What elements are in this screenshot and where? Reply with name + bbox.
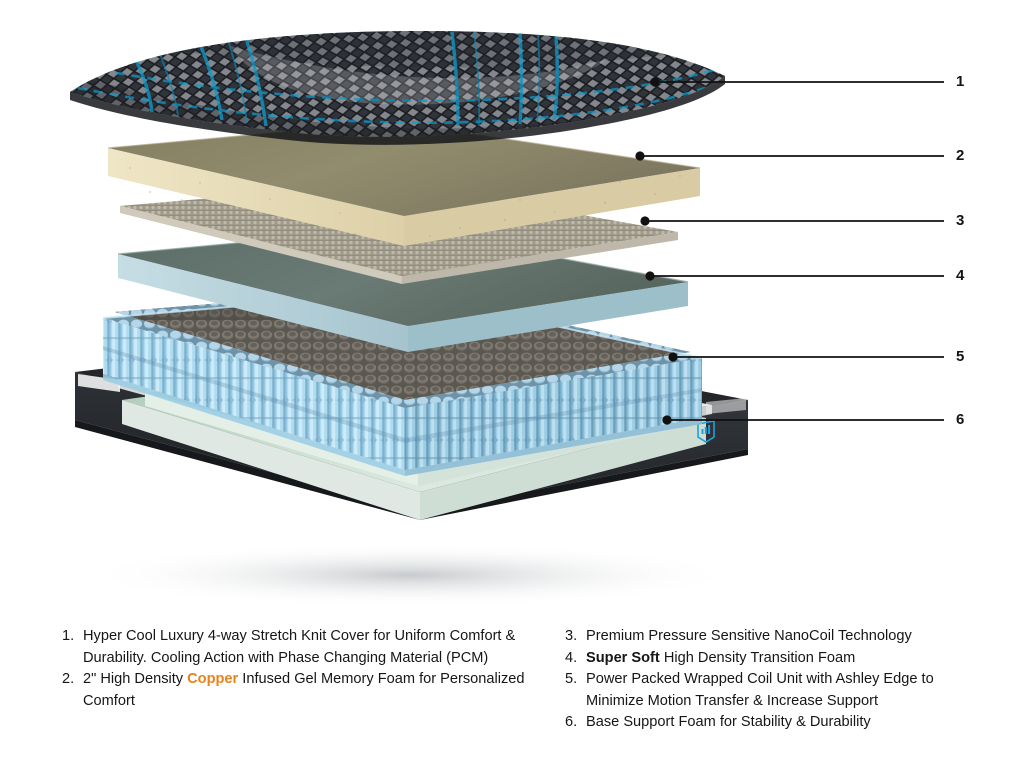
legend-item-number: 6. <box>565 712 586 734</box>
legend-item: 5.Power Packed Wrapped Coil Unit with As… <box>565 669 985 712</box>
legend: 1.Hyper Cool Luxury 4-way Stretch Knit C… <box>0 626 1024 768</box>
callout-number-3: 3 <box>956 213 964 228</box>
legend-column-left: 1.Hyper Cool Luxury 4-way Stretch Knit C… <box>62 626 554 712</box>
callout-number-6: 6 <box>956 412 964 427</box>
legend-item-number: 3. <box>565 626 586 648</box>
legend-text-run: 2" High Density <box>83 671 187 687</box>
legend-item-number: 2. <box>62 669 83 691</box>
legend-item-text: Base Support Foam for Stability & Durabi… <box>586 712 985 734</box>
legend-item: 6.Base Support Foam for Stability & Dura… <box>565 712 985 734</box>
keyword-bold: Super Soft <box>586 650 660 666</box>
legend-item-number: 5. <box>565 669 586 691</box>
legend-text-run: Power Packed Wrapped Coil Unit with Ashl… <box>586 671 934 709</box>
legend-item: 3.Premium Pressure Sensitive NanoCoil Te… <box>565 626 985 648</box>
legend-text-run: Hyper Cool Luxury 4-way Stretch Knit Cov… <box>83 628 515 666</box>
legend-item: 1.Hyper Cool Luxury 4-way Stretch Knit C… <box>62 626 554 669</box>
legend-item-number: 1. <box>62 626 83 648</box>
legend-item: 4.Super Soft High Density Transition Foa… <box>565 648 985 670</box>
legend-item-text: Power Packed Wrapped Coil Unit with Ashl… <box>586 669 985 712</box>
callout-number-5: 5 <box>956 349 964 364</box>
mattress-layer-diagram-page: 1 2 3 4 5 6 1.Hyper Cool Luxury 4-way St… <box>0 0 1024 768</box>
callout-number-2: 2 <box>956 148 964 163</box>
exploded-mattress-illustration: 1 2 3 4 5 6 <box>0 0 1024 615</box>
callout-number-4: 4 <box>956 268 964 283</box>
layer-1-knit-cover <box>60 18 742 150</box>
legend-item: 2.2" High Density Copper Infused Gel Mem… <box>62 669 554 712</box>
legend-item-text: 2" High Density Copper Infused Gel Memor… <box>83 669 554 712</box>
legend-item-text: Super Soft High Density Transition Foam <box>586 648 985 670</box>
callout-number-1: 1 <box>956 74 964 89</box>
keyword-copper: Copper <box>187 671 238 687</box>
legend-item-number: 4. <box>565 648 586 670</box>
legend-text-run: Premium Pressure Sensitive NanoCoil Tech… <box>586 628 912 644</box>
legend-text-run: Base Support Foam for Stability & Durabi… <box>586 714 871 730</box>
legend-column-right: 3.Premium Pressure Sensitive NanoCoil Te… <box>565 626 985 734</box>
legend-item-text: Hyper Cool Luxury 4-way Stretch Knit Cov… <box>83 626 554 669</box>
legend-item-text: Premium Pressure Sensitive NanoCoil Tech… <box>586 626 985 648</box>
ground-shadow <box>80 543 740 607</box>
legend-text-run: High Density Transition Foam <box>660 650 855 666</box>
